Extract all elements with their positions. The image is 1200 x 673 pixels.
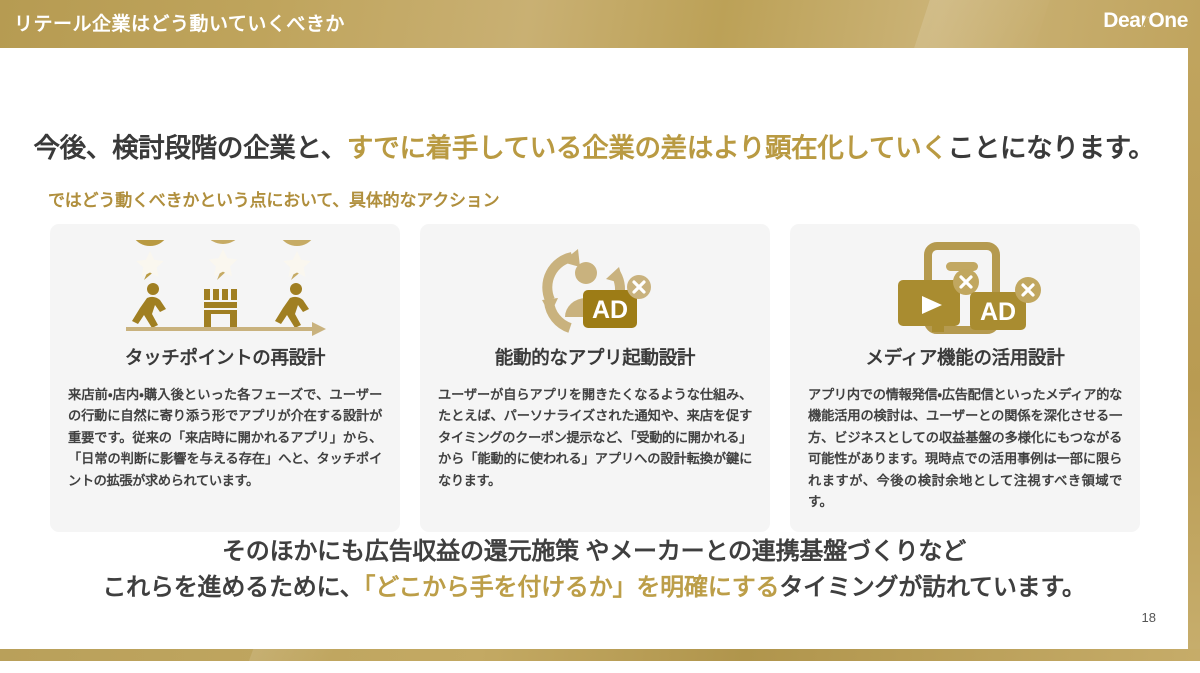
card-media-function: AD メディア機能の活用設計 アプリ内での情報発信・広告配信といったメディア的な…: [790, 224, 1140, 532]
card-touchpoint: タッチポイントの再設計 来店前・店内・購入後といった各フェーズで、ユーザーの行動…: [50, 224, 400, 532]
brand-logo: DearOne: [1103, 9, 1188, 33]
slide-content: 今後、検討段階の企業と、すでに着手している企業の差はより顕在化していくことになり…: [0, 48, 1188, 649]
touchpoint-journey-icon: [68, 238, 382, 338]
page-title: リテール企業はどう動いていくべきか: [14, 9, 345, 36]
card-body: アプリ内での情報発信・広告配信といったメディア的な機能活用の検討は、ユーザーとの…: [808, 384, 1122, 512]
page-number: 18: [1142, 610, 1156, 625]
slide: リテール企業はどう動いていくべきか DearOne 今後、検討段階の企業と、すで…: [0, 0, 1200, 661]
svg-text:AD: AD: [980, 298, 1016, 326]
headline-part-2-highlight: すでに着手している企業の差はより顕在化していく: [347, 133, 948, 163]
headline-part-3: ことになります。: [948, 133, 1155, 163]
app-activation-ad-icon: AD: [438, 238, 752, 338]
closing-statement: そのほかにも広告収益の還元施策 やメーカーとの連携基盤づくりなど これらを進める…: [0, 534, 1188, 605]
closing-line-2: これらを進めるために、「どこから手を付けるか」を明確にするタイミングが訪れていま…: [0, 570, 1188, 606]
card-body: 来店前・店内・購入後といった各フェーズで、ユーザーの行動に自然に寄り添う形でアプ…: [68, 384, 382, 491]
logo-text-one: One: [1148, 9, 1188, 33]
card-title: メディア機能の活用設計: [808, 344, 1122, 370]
logo-text-dear: Dear: [1103, 9, 1148, 32]
media-function-icon: AD: [808, 238, 1122, 338]
card-body: ユーザーが自らアプリを開きたくなるような仕組み、たとえば、パーソナライズされた通…: [438, 384, 752, 491]
right-gold-border: [1188, 48, 1200, 661]
headline-part-1: 今後、検討段階の企業と、: [33, 133, 346, 163]
closing-line-2-highlight: 「どこから手を付けるか」を明確にする: [363, 574, 779, 601]
closing-line-1: そのほかにも広告収益の還元施策 やメーカーとの連携基盤づくりなど: [0, 534, 1188, 570]
subheading: ではどう動くべきかという点において、具体的なアクション: [48, 186, 499, 211]
action-cards: タッチポイントの再設計 来店前・店内・購入後といった各フェーズで、ユーザーの行動…: [50, 224, 1140, 532]
closing-line-2-part-3: タイミングが訪れています。: [779, 574, 1085, 601]
card-app-activation: AD 能動的なアプリ起動設計 ユーザーが自らアプリを開きたくなるような仕組み、た…: [420, 224, 770, 532]
svg-text:AD: AD: [592, 296, 628, 324]
card-title: タッチポイントの再設計: [68, 344, 382, 370]
closing-line-2-part-1: これらを進めるために、: [102, 574, 363, 601]
slide-header: リテール企業はどう動いていくべきか DearOne: [0, 0, 1200, 48]
bottom-gold-border: [0, 649, 1200, 661]
card-title: 能動的なアプリ起動設計: [438, 344, 752, 370]
headline: 今後、検討段階の企業と、すでに着手している企業の差はより顕在化していくことになり…: [0, 126, 1188, 165]
